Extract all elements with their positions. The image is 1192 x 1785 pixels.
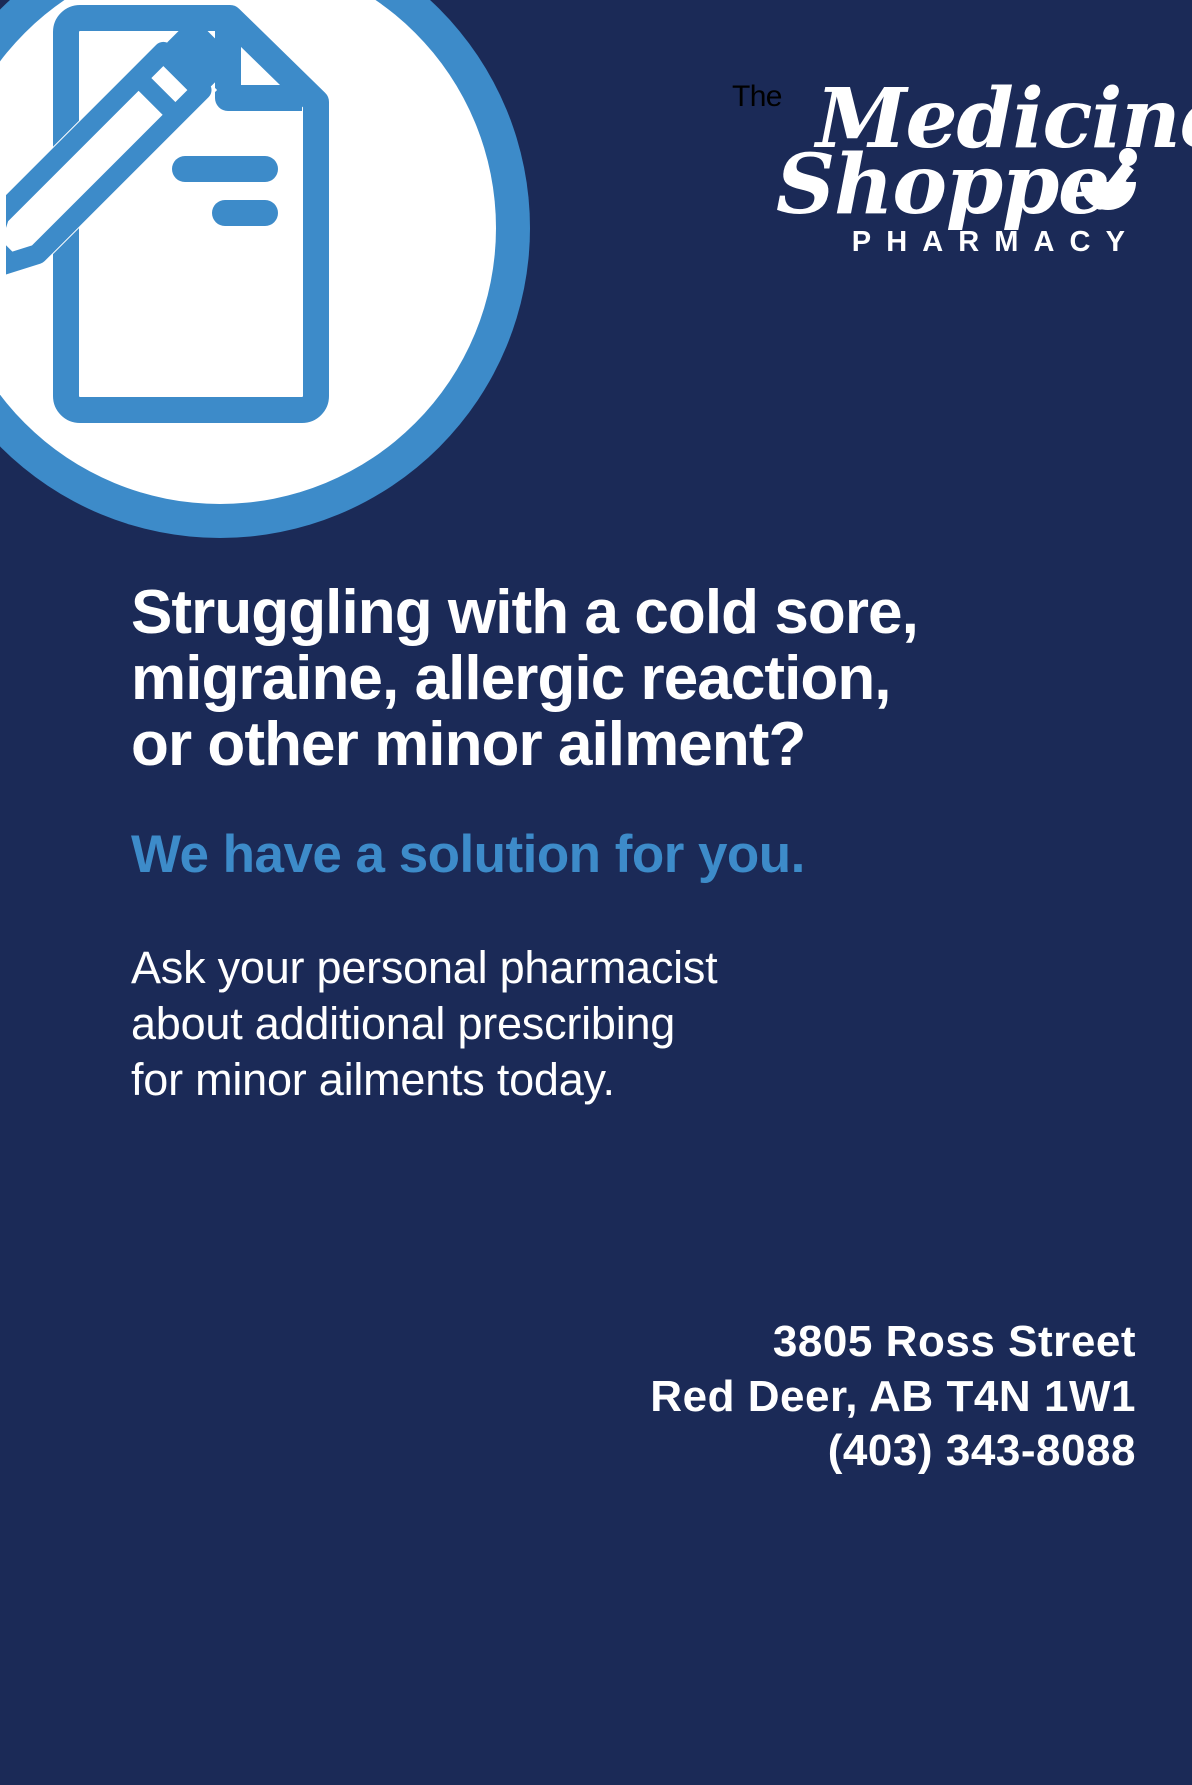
address-city-province-postal: Red Deer, AB T4N 1W1 <box>376 1370 1136 1425</box>
headline-line-3: or other minor ailment? <box>131 712 1011 778</box>
logo-shoppe-text: Shoppe® <box>776 144 1126 226</box>
logo-the-text: The <box>732 82 782 130</box>
logo-pharmacy-tagline: PHARMACY <box>760 228 1140 257</box>
store-address-block: 3805 Ross Street Red Deer, AB T4N 1W1 (4… <box>376 1315 1136 1479</box>
mortar-and-pestle-icon <box>1076 148 1142 220</box>
body-line-2: about additional prescribing <box>131 996 951 1052</box>
body-line-1: Ask your personal pharmacist <box>131 940 951 996</box>
prescription-pad-with-pencil-icon <box>6 4 406 424</box>
poster-canvas: The Medicine Shoppe® PHARMACY Struggling… <box>0 0 1192 1785</box>
body-line-3: for minor ailments today. <box>131 1052 951 1108</box>
medicine-shoppe-logo: The Medicine Shoppe® PHARMACY <box>724 78 1144 253</box>
icon-badge-ring <box>0 0 530 538</box>
address-street: 3805 Ross Street <box>376 1315 1136 1370</box>
body-copy: Ask your personal pharmacist about addit… <box>131 940 951 1107</box>
subheadline: We have a solution for you. <box>131 826 1011 884</box>
address-phone[interactable]: (403) 343-8088 <box>376 1424 1136 1479</box>
headline: Struggling with a cold sore, migraine, a… <box>131 580 1011 779</box>
headline-line-2: migraine, allergic reaction, <box>131 646 1011 712</box>
headline-line-1: Struggling with a cold sore, <box>131 580 1011 646</box>
